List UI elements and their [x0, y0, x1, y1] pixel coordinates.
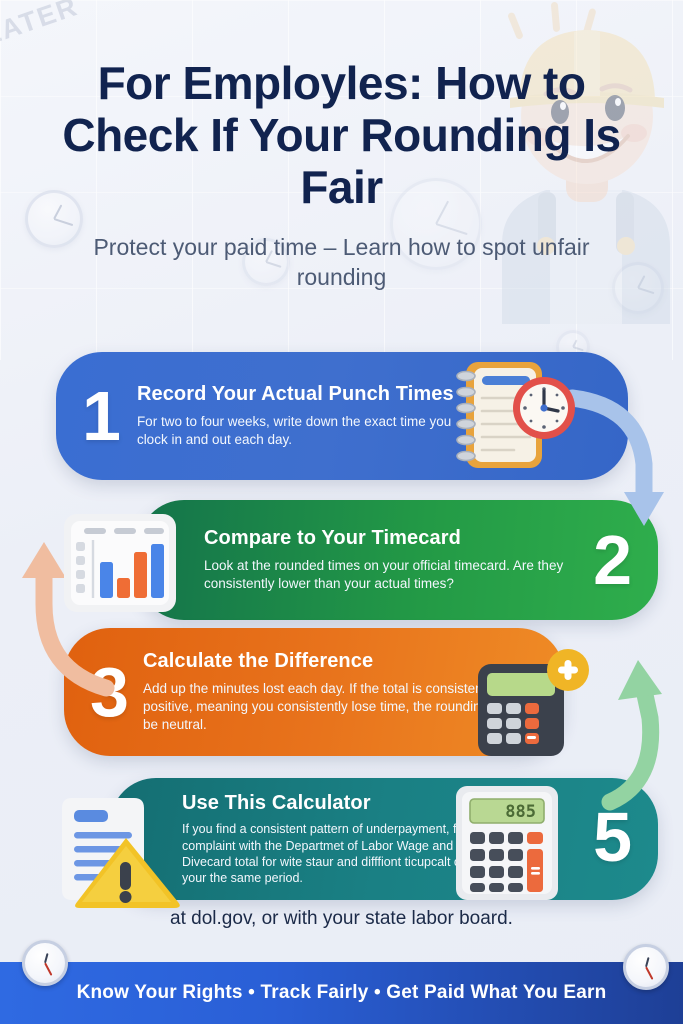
footer-clock-icon-left [22, 940, 68, 986]
footer-text: Know Your Rights • Track Fairly • Get Pa… [77, 982, 607, 1004]
footer-clock-icon-right [623, 944, 669, 990]
step-heading: Compare to Your Timecard [204, 527, 579, 551]
step-card-4[interactable]: 5 Use This Calculator If you find a cons… [110, 778, 658, 900]
step-card-1[interactable]: 1 Record Your Actual Punch Times For two… [56, 352, 628, 480]
step-heading: Calculate the Difference [143, 650, 540, 674]
step-heading: Record Your Actual Punch Times [137, 383, 478, 407]
step-body: Add up the minutes lost each day. If the… [143, 680, 540, 734]
step-number: 2 [593, 525, 632, 595]
step-card-3[interactable]: 3 Calculate the Difference Add up the mi… [64, 628, 564, 756]
closing-line: at dol.gov, or with your state labor boa… [0, 908, 683, 930]
step-number: 5 [593, 802, 632, 872]
step-body: For two to four weeks, write down the ex… [137, 413, 478, 449]
page-title: For Employles: How to Check If Your Roun… [0, 58, 683, 214]
step-card-2[interactable]: 2 Compare to Your Timecard Look at the r… [138, 500, 658, 620]
footer-bar: Know Your Rights • Track Fairly • Get Pa… [0, 962, 683, 1024]
header: For Employles: How to Check If Your Roun… [0, 0, 683, 293]
page-subtitle: Protect your paid time – Learn how to sp… [0, 232, 683, 293]
step-body: If you find a consistent pattern of unde… [182, 821, 508, 886]
infographic-page: LATER [0, 0, 683, 1024]
step-heading: Use This Calculator [182, 792, 508, 816]
step-number: 3 [90, 657, 129, 727]
step-number: 1 [82, 381, 121, 451]
step-body: Look at the rounded times on your offici… [204, 557, 579, 593]
